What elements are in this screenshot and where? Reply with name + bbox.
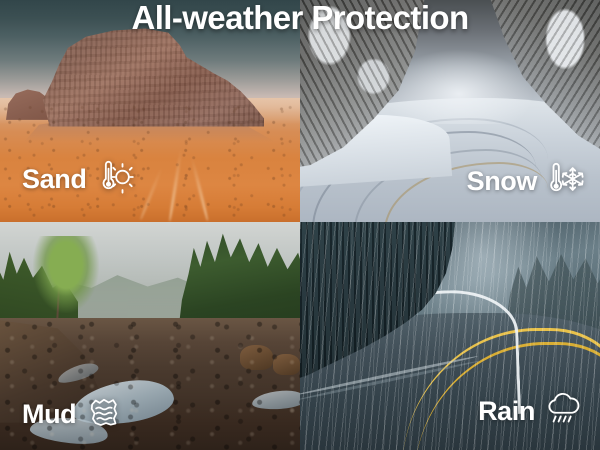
label-snow-text: Snow [467, 168, 537, 195]
quadrant-grid: Sand [0, 0, 600, 450]
quadrant-mud[interactable]: Mud [0, 222, 300, 450]
page-title: All-weather Protection [0, 1, 600, 36]
label-mud-text: Mud [22, 401, 76, 428]
label-rain-text: Rain [478, 398, 535, 425]
thermometer-sun-icon [95, 157, 135, 202]
label-mud: Mud [22, 393, 123, 436]
label-rain: Rain [478, 389, 584, 434]
rain-cloud-icon [544, 389, 584, 434]
mud-puddle-icon [85, 393, 123, 436]
all-weather-protection-banner: Sand [0, 0, 600, 450]
thermometer-snowflake-icon [546, 159, 586, 204]
leafy-tree [33, 236, 99, 314]
label-sand: Sand [22, 157, 135, 202]
quadrant-rain[interactable]: Rain [300, 222, 600, 450]
label-sand-text: Sand [22, 166, 86, 193]
label-snow: Snow [467, 159, 586, 204]
